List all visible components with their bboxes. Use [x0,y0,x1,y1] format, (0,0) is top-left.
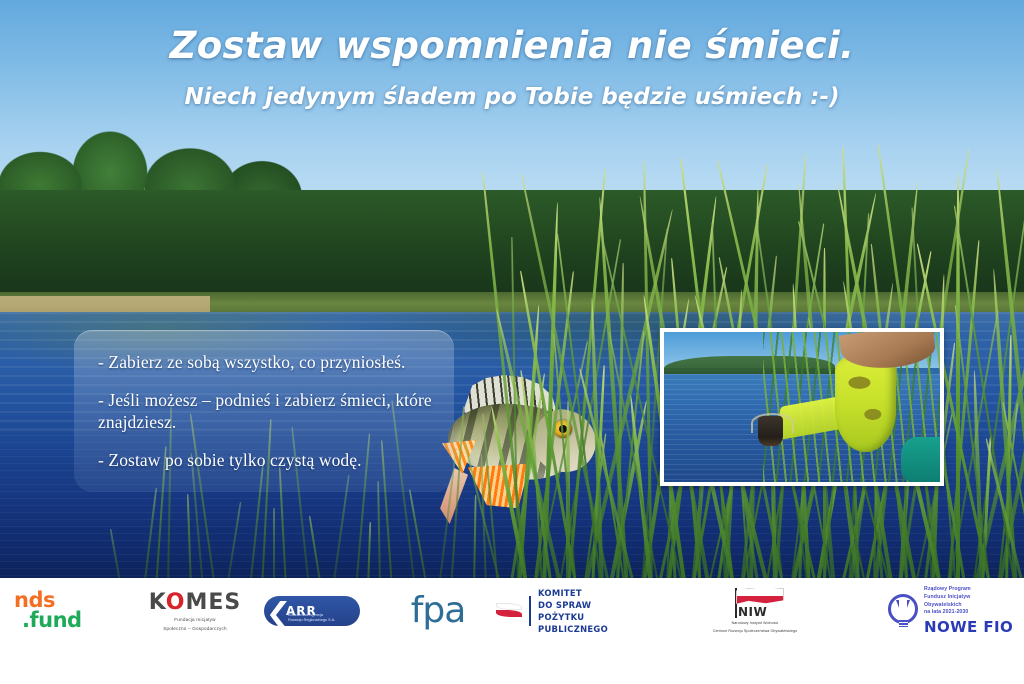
fio-subtitle-line2: Fundusz Inicjatyw [924,594,1013,602]
komes-k: K [149,590,166,615]
bullet-item: - Zabierz ze sobą wszystko, co przyniosł… [98,352,436,374]
nowe-fio-wordmark: NOWE FIO [924,618,1013,636]
arr-subtitle-line1: Koszalińska Agencja [288,613,323,617]
logo-nds-fund: nds .fund [14,582,122,640]
inset-photo-frame [660,328,944,486]
message-panel: - Zabierz ze sobą wszystko, co przyniosł… [74,330,454,492]
bullet-item: - Jeśli możesz – podnieś i zabierz śmiec… [98,390,436,434]
logo-niw: NIW Narodowy Instytut Wolności Centrum R… [700,582,810,640]
komitet-text: KOMITET DO SPRAW POŻYTKU PUBLICZNEGO [538,587,608,636]
polish-flag-icon [496,602,522,620]
fio-subtitle-line3: Obywatelskich [924,602,1013,610]
niw-subtitle-line1: Narodowy Instytut Wolności [732,621,779,626]
fpa-wordmark: fpa [411,593,466,629]
komes-mes: MES [186,590,242,615]
komitet-line1: KOMITET [538,588,582,598]
komes-subtitle-line1: Fundacja Inicjatyw [174,617,215,624]
logo-komes: KOMES Fundacja Inicjatyw Społeczno – Gos… [140,582,250,640]
page-title: Zostaw wspomnienia nie śmieci. [0,24,1024,67]
arr-subtitle-line2: Rozwoju Regionalnego S.A. [288,618,335,622]
waving-flag [736,588,784,605]
logo-arr: ARR Koszalińska Agencja Rozwoju Regional… [262,582,362,640]
niw-wordmark: NIW [738,605,767,619]
komes-subtitle-line2: Społeczno – Gospodarczych [163,626,226,633]
lake-photo-scene: Zostaw wspomnienia nie śmieci. Niech jed… [0,0,1024,578]
footer: nds .fund KOMES Fundacja Inicjatyw Społe… [0,578,1024,684]
fio-subtitle-line1: Rządowy Program [924,586,1013,594]
arr-badge: ARR Koszalińska Agencja Rozwoju Regional… [264,596,360,626]
fio-subtitle-line4: na lata 2021-2030 [924,609,1013,617]
komitet-line3: POŻYTKU [538,612,584,622]
komes-wordmark: KOMES [149,590,242,615]
komitet-line2: DO SPRAW [538,600,591,610]
fio-text-block: Rządowy Program Fundusz Inicjatyw Obywat… [924,586,1013,636]
niw-flag-icon: NIW [724,588,786,618]
niw-subtitle-line2: Centrum Rozwoju Społeczeństwa Obywatelsk… [713,629,798,634]
perch-fish [430,368,600,518]
inset-boat [901,437,940,482]
arr-subtitle: Koszalińska Agencja Rozwoju Regionalnego… [288,613,335,623]
divider [529,596,531,626]
logo-fpa: fpa [398,582,478,640]
bullet-item: - Zostaw po sobie tylko czystą wodę. [98,450,436,472]
logo-nowe-fio: Rządowy Program Fundusz Inicjatyw Obywat… [888,582,1016,640]
lightbulb-icon [888,594,918,628]
page-subtitle: Niech jedynym śladem po Tobie będzie uśm… [0,84,1024,110]
logo-komitet-pozytku-publicznego: KOMITET DO SPRAW POŻYTKU PUBLICZNEGO [496,582,626,640]
komes-diamond-o: O [166,590,186,615]
bulb-base [899,620,908,627]
flag-white-stripe [496,603,522,610]
fish-eye [554,420,572,438]
fish-pectoral-fin [468,461,534,513]
fund-word: .fund [22,611,82,631]
komitet-line4: PUBLICZNEGO [538,624,608,634]
flag-red-stripe [496,610,522,617]
inset-litter-bag [835,353,896,452]
logo-bar: nds .fund KOMES Fundacja Inicjatyw Społe… [0,582,1024,644]
poster-root: Zostaw wspomnienia nie śmieci. Niech jed… [0,0,1024,684]
inset-photo [664,332,940,482]
inset-bucket [758,416,783,446]
